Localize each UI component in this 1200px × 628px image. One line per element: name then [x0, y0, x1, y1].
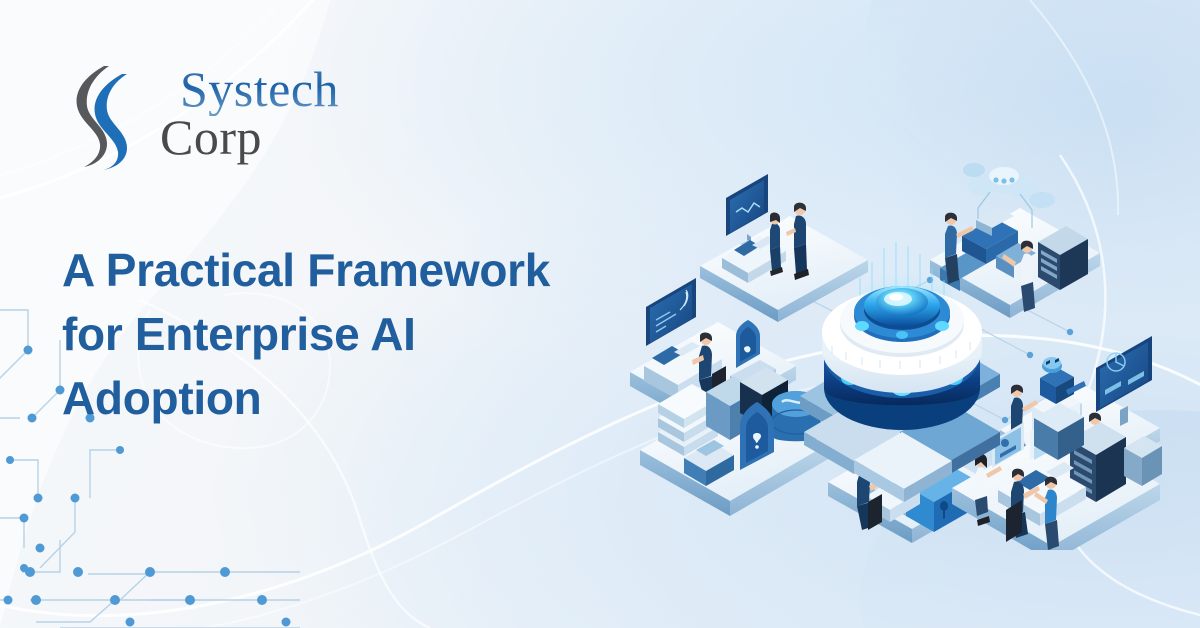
- node-analytics-meeting: [700, 150, 868, 322]
- hero-banner: Systech Corp A Practical Framework for E…: [0, 0, 1200, 628]
- page-title-line-1: A Practical Framework: [62, 238, 662, 302]
- page-title-line-2: for Enterprise AI: [62, 302, 662, 366]
- node-cloud-infrastructure: [930, 163, 1100, 318]
- brand-name-secondary: Corp: [160, 110, 262, 164]
- page-title: A Practical Framework for Enterprise AI …: [62, 238, 662, 430]
- brand-name-primary: Systech: [180, 62, 339, 116]
- brand-logo[interactable]: Systech Corp: [60, 58, 360, 176]
- brand-logo-text: Systech Corp: [122, 58, 362, 176]
- isometric-enterprise-ai-network: [600, 150, 1200, 550]
- page-title-line-3: Adoption: [62, 366, 662, 430]
